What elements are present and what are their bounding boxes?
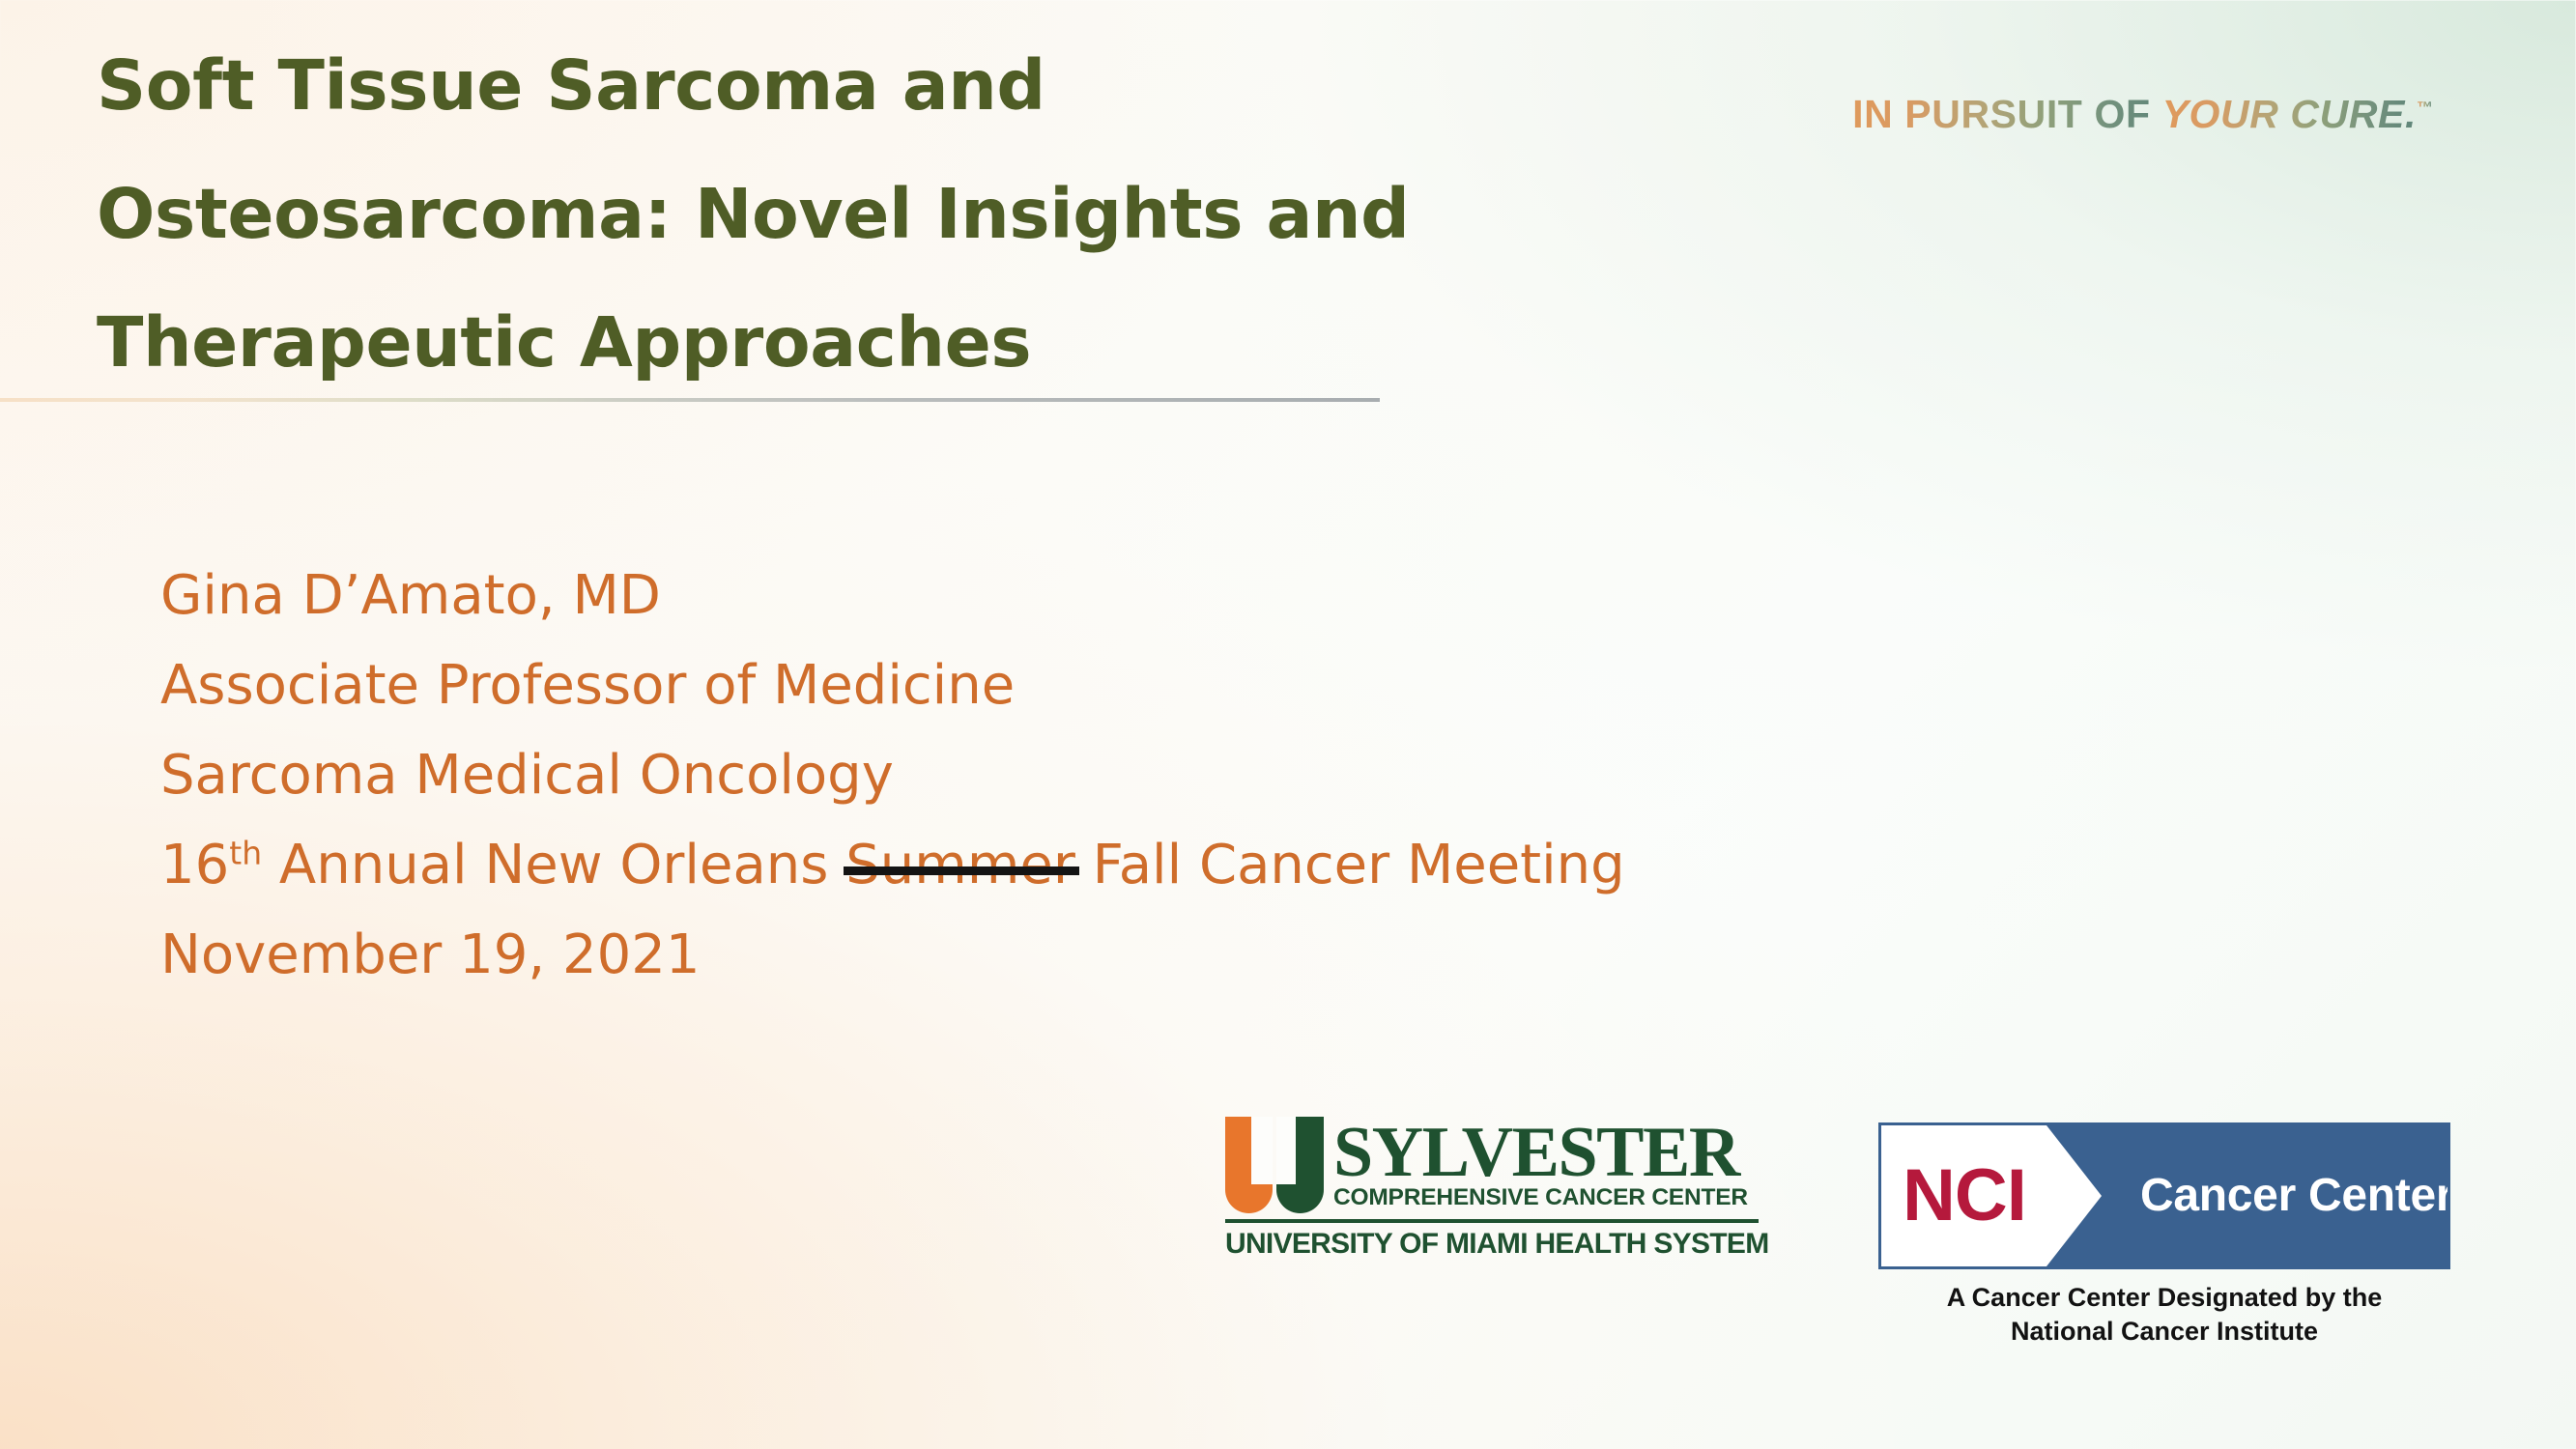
u-icon-left-orange xyxy=(1225,1117,1273,1213)
tagline-part-2: YOUR CURE. xyxy=(2162,92,2417,136)
event-struck-word: Summer xyxy=(845,820,1075,910)
slide-title: Soft Tissue Sarcoma and Osteosarcoma: No… xyxy=(97,21,1662,407)
trademark-symbol: ™ xyxy=(2417,99,2433,117)
sylvester-divider-rule xyxy=(1225,1219,1759,1223)
sylvester-wordmark: SYLVESTER COMPREHENSIVE CANCER CENTER xyxy=(1333,1122,1759,1213)
event-ordinal-number: 16 xyxy=(160,834,229,896)
event-text-after-strike: Fall Cancer Meeting xyxy=(1075,834,1625,896)
nci-caption: A Cancer Center Designated by the Nation… xyxy=(1878,1281,2450,1348)
nci-caption-line-1: A Cancer Center Designated by the xyxy=(1878,1281,2450,1315)
event-ordinal-suffix: th xyxy=(229,834,262,871)
slide-title-line-3: Therapeutic Approaches xyxy=(97,278,1662,407)
presenter-name: Gina D’Amato, MD xyxy=(160,551,1625,640)
u-icon-right-green xyxy=(1276,1117,1324,1213)
sylvester-logo-top: SYLVESTER COMPREHENSIVE CANCER CENTER xyxy=(1225,1117,1759,1213)
brand-tagline: IN PURSUIT OF YOUR CURE.™ xyxy=(1852,95,2433,134)
slide-title-line-1: Soft Tissue Sarcoma and xyxy=(97,21,1662,150)
sylvester-name: SYLVESTER xyxy=(1333,1122,1759,1184)
nci-badge: NCI Cancer Center xyxy=(1878,1122,2450,1269)
presentation-title-slide: Soft Tissue Sarcoma and Osteosarcoma: No… xyxy=(0,0,2576,1449)
nci-caption-line-2: National Cancer Institute xyxy=(1878,1315,2450,1349)
sylvester-health-system: UNIVERSITY OF MIAMI HEALTH SYSTEM xyxy=(1225,1230,1759,1259)
sylvester-logo: SYLVESTER COMPREHENSIVE CANCER CENTER UN… xyxy=(1225,1117,1759,1259)
nci-acronym: NCI xyxy=(1903,1159,2026,1233)
miami-u-icon xyxy=(1225,1117,1324,1213)
sylvester-subtitle: COMPREHENSIVE CANCER CENTER xyxy=(1333,1183,1759,1213)
slide-title-line-2: Osteosarcoma: Novel Insights and xyxy=(97,150,1662,278)
nci-cancer-center-label: Cancer Center xyxy=(2140,1173,2450,1219)
presenter-department: Sarcoma Medical Oncology xyxy=(160,730,1625,820)
tagline-part-1: IN PURSUIT OF xyxy=(1852,92,2161,136)
event-name: 16th Annual New Orleans Summer Fall Canc… xyxy=(160,820,1625,910)
presenter-role: Associate Professor of Medicine xyxy=(160,640,1625,730)
event-text-before-strike: Annual New Orleans xyxy=(262,834,845,896)
event-date: November 19, 2021 xyxy=(160,910,1625,1000)
title-divider-rule xyxy=(0,398,1380,402)
nci-logo: NCI Cancer Center A Cancer Center Design… xyxy=(1878,1122,2450,1348)
presenter-details: Gina D’Amato, MD Associate Professor of … xyxy=(160,551,1625,1000)
